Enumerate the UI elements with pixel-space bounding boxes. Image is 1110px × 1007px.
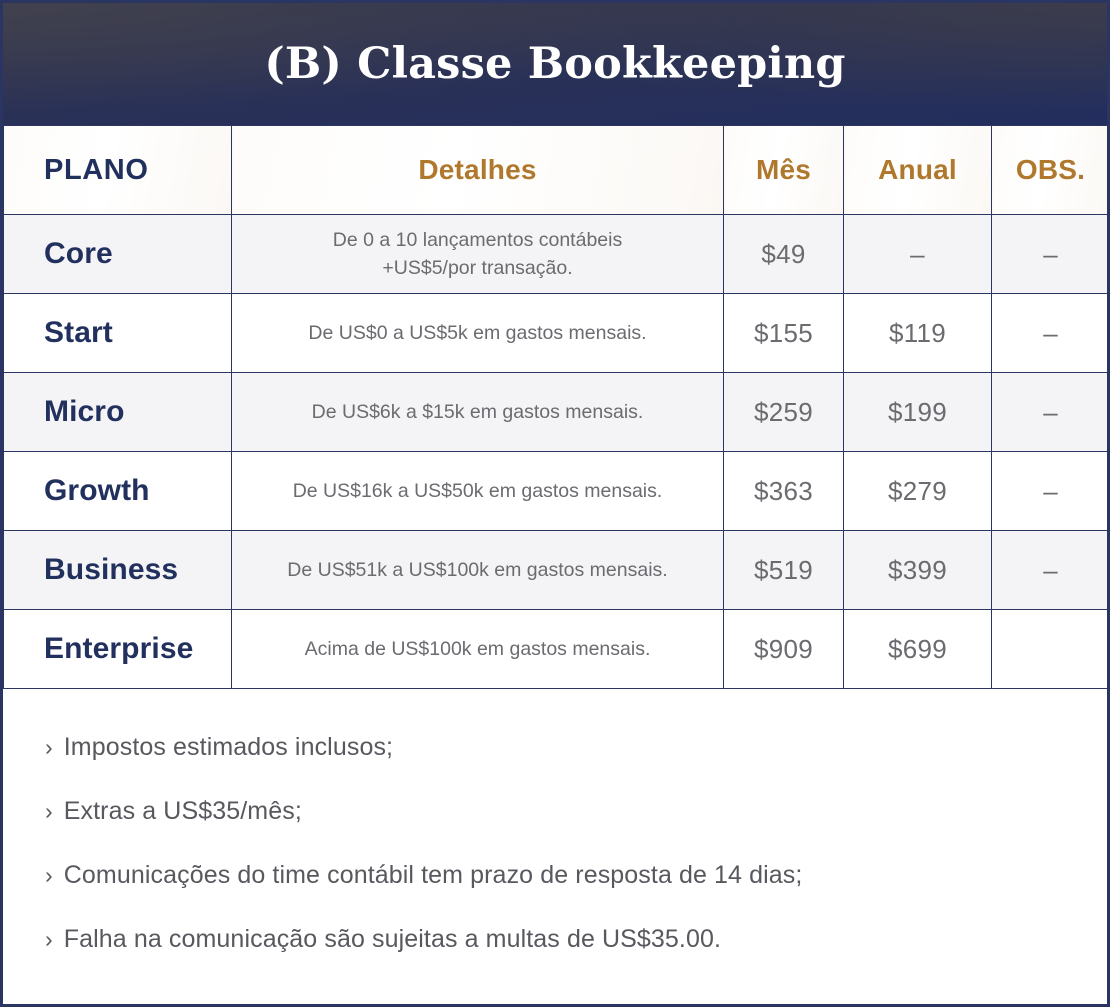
table-row: Core De 0 a 10 lançamentos contábeis +US… — [4, 215, 1110, 294]
price-month: $49 — [724, 215, 844, 294]
plan-details: De US$16k a US$50k em gastos mensais. — [232, 452, 724, 531]
plan-details: Acima de US$100k em gastos mensais. — [232, 610, 724, 689]
footnotes: › Impostos estimados inclusos; › Extras … — [3, 689, 1107, 954]
column-header-details: Detalhes — [232, 126, 724, 215]
plan-name: Start — [4, 294, 232, 373]
price-month: $155 — [724, 294, 844, 373]
price-annual: $119 — [844, 294, 992, 373]
obs-cell: – — [992, 452, 1110, 531]
page-title: (B) Classe Bookkeeping — [264, 43, 845, 86]
table-row: Business De US$51k a US$100k em gastos m… — [4, 531, 1110, 610]
price-month: $363 — [724, 452, 844, 531]
plan-details-line-2: +US$5/por transação. — [382, 257, 572, 279]
footnote-text: Impostos estimados inclusos; — [64, 733, 393, 762]
price-month: $909 — [724, 610, 844, 689]
obs-cell — [992, 610, 1110, 689]
price-annual: $699 — [844, 610, 992, 689]
pricing-card: (B) Classe Bookkeeping PLANO Detalhes Mê… — [0, 0, 1110, 1007]
chevron-right-icon: › — [45, 864, 53, 887]
price-month: $519 — [724, 531, 844, 610]
price-annual: $399 — [844, 531, 992, 610]
obs-cell: – — [992, 373, 1110, 452]
obs-cell: – — [992, 215, 1110, 294]
plan-name: Micro — [4, 373, 232, 452]
price-annual: $279 — [844, 452, 992, 531]
pricing-table: PLANO Detalhes Mês Anual OBS. Core De 0 … — [3, 125, 1110, 689]
price-month: $259 — [724, 373, 844, 452]
column-header-obs: OBS. — [992, 126, 1110, 215]
plan-name: Business — [4, 531, 232, 610]
footnote-item: › Comunicações do time contábil tem praz… — [45, 861, 1107, 890]
footnote-item: › Falha na comunicação são sujeitas a mu… — [45, 925, 1107, 954]
chevron-right-icon: › — [45, 736, 53, 759]
plan-name: Enterprise — [4, 610, 232, 689]
price-annual: – — [844, 215, 992, 294]
chevron-right-icon: › — [45, 928, 53, 951]
footnote-text: Falha na comunicação são sujeitas a mult… — [64, 925, 721, 954]
table-row: Enterprise Acima de US$100k em gastos me… — [4, 610, 1110, 689]
column-header-plan: PLANO — [4, 126, 232, 215]
column-header-month: Mês — [724, 126, 844, 215]
plan-details: De US$6k a $15k em gastos mensais. — [232, 373, 724, 452]
plan-details: De US$0 a US$5k em gastos mensais. — [232, 294, 724, 373]
column-header-annual: Anual — [844, 126, 992, 215]
obs-cell: – — [992, 294, 1110, 373]
plan-details: De US$51k a US$100k em gastos mensais. — [232, 531, 724, 610]
chevron-right-icon: › — [45, 800, 53, 823]
footnote-text: Extras a US$35/mês; — [64, 797, 302, 826]
plan-details-line-1: De 0 a 10 lançamentos contábeis — [333, 229, 622, 251]
table-row: Micro De US$6k a $15k em gastos mensais.… — [4, 373, 1110, 452]
table-row: Start De US$0 a US$5k em gastos mensais.… — [4, 294, 1110, 373]
footnote-item: › Extras a US$35/mês; — [45, 797, 1107, 826]
price-annual: $199 — [844, 373, 992, 452]
table-header-row: PLANO Detalhes Mês Anual OBS. — [4, 126, 1110, 215]
table-row: Growth De US$16k a US$50k em gastos mens… — [4, 452, 1110, 531]
footnote-text: Comunicações do time contábil tem prazo … — [64, 861, 803, 890]
plan-details: De 0 a 10 lançamentos contábeis +US$5/po… — [232, 215, 724, 294]
plan-name: Growth — [4, 452, 232, 531]
footnote-item: › Impostos estimados inclusos; — [45, 733, 1107, 762]
obs-cell: – — [992, 531, 1110, 610]
title-banner: (B) Classe Bookkeeping — [3, 3, 1107, 125]
plan-name: Core — [4, 215, 232, 294]
